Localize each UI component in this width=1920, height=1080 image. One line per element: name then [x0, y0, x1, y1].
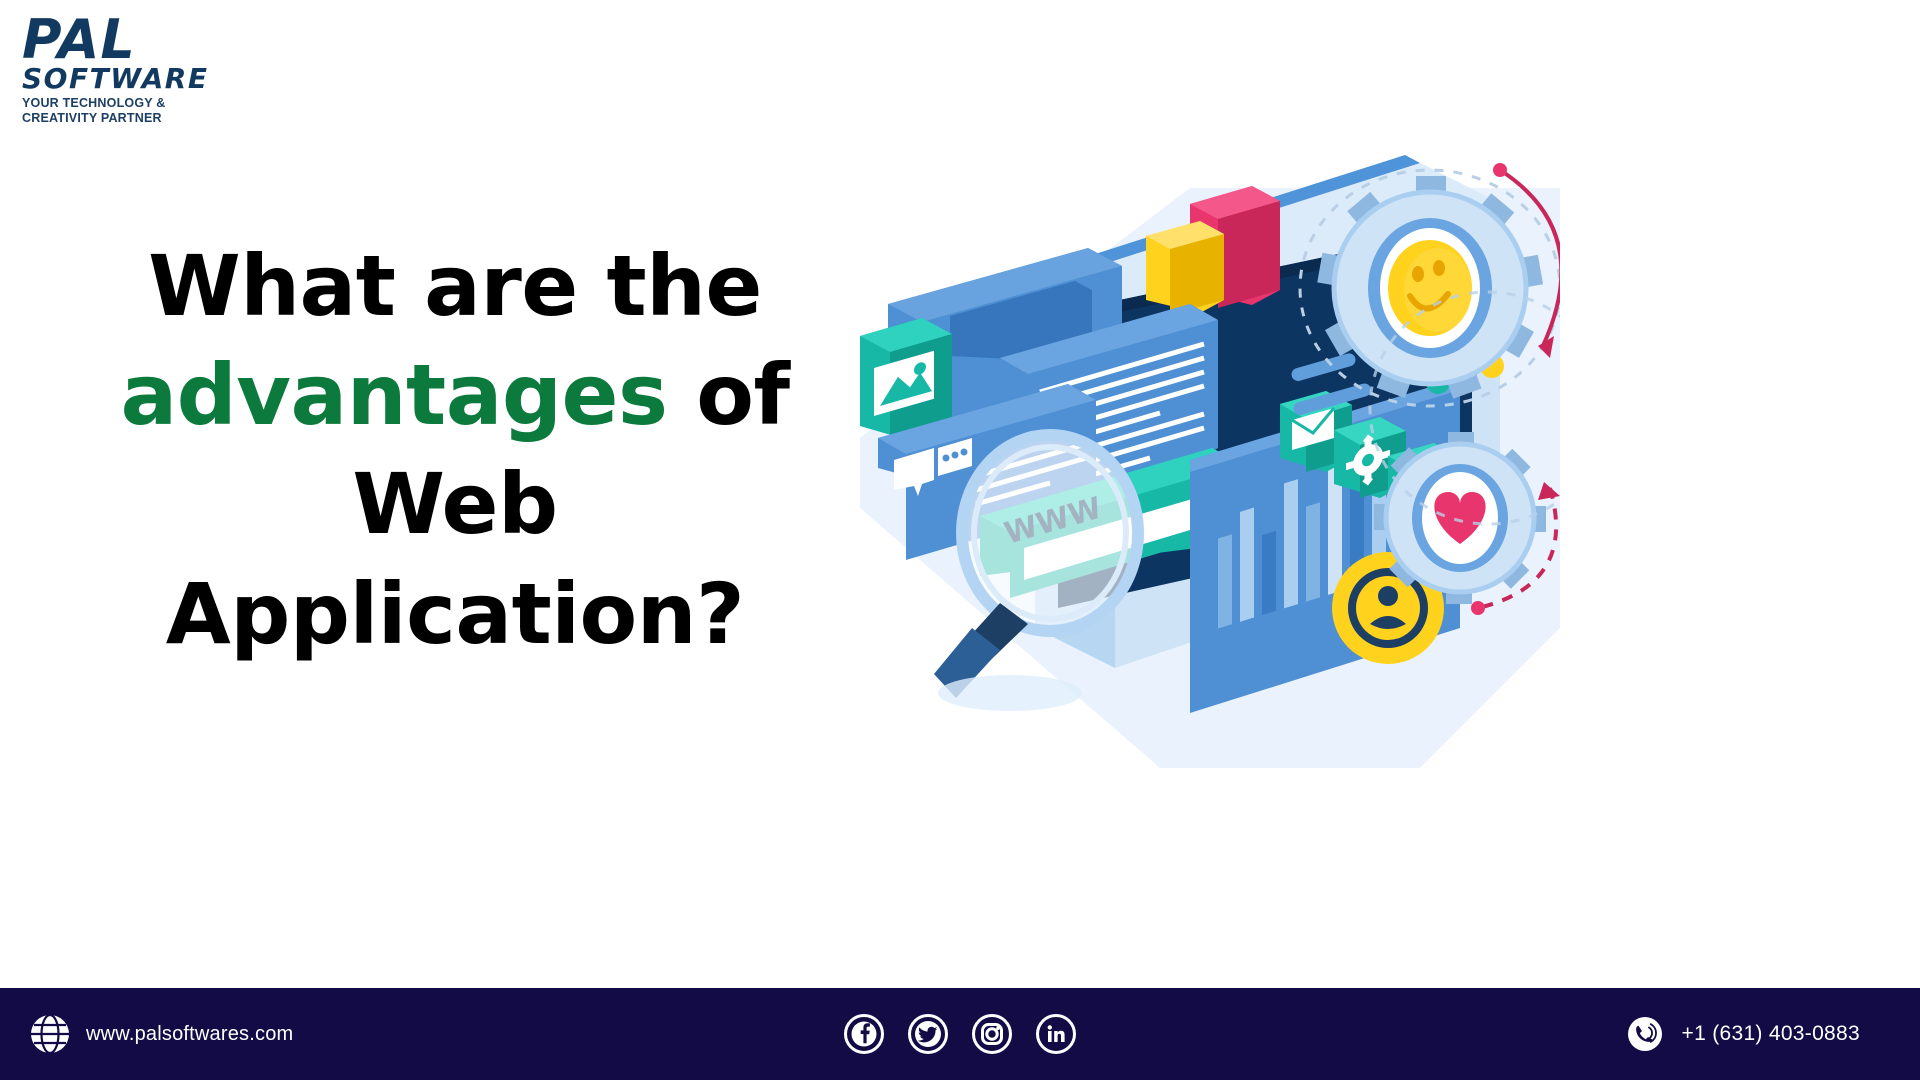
arrow-dot-top	[1493, 163, 1507, 177]
logo-pal-text: PAL	[22, 14, 222, 66]
logo-tagline-line2: CREATIVITY PARTNER	[22, 111, 222, 126]
page-title: What are the advantages of Web Applicati…	[60, 232, 850, 669]
smiley-icon	[1388, 240, 1472, 336]
globe-icon	[28, 1012, 72, 1056]
footer-phone[interactable]: +1 (631) 403-0883	[1624, 1013, 1860, 1055]
headline-part-2: of	[696, 346, 789, 444]
logo-tagline-line1: YOUR TECHNOLOGY &	[22, 96, 222, 111]
phone-icon	[1624, 1013, 1666, 1055]
footer-website-text[interactable]: www.palsoftwares.com	[86, 1023, 293, 1046]
linkedin-icon[interactable]	[1035, 1013, 1077, 1055]
headline-part-3: Web	[352, 455, 557, 553]
footer-bar: www.palsoftwares.com	[0, 988, 1920, 1080]
logo-tagline: YOUR TECHNOLOGY & CREATIVITY PARTNER	[22, 96, 222, 125]
headline-part-4: Application?	[166, 565, 745, 663]
headline-part-1: What are the	[148, 237, 762, 335]
instagram-icon[interactable]	[971, 1013, 1013, 1055]
gear-small	[1374, 432, 1546, 604]
headline-highlight: advantages	[120, 346, 667, 444]
twitter-icon[interactable]	[907, 1013, 949, 1055]
logo-software-text: SOFTWARE	[22, 64, 222, 93]
brand-logo[interactable]: PAL SOFTWARE YOUR TECHNOLOGY & CREATIVIT…	[22, 14, 222, 125]
footer-website[interactable]: www.palsoftwares.com	[28, 1012, 293, 1056]
footer-phone-text[interactable]: +1 (631) 403-0883	[1682, 1022, 1860, 1046]
facebook-icon[interactable]	[843, 1013, 885, 1055]
web-application-illustration: WWW	[860, 108, 1560, 768]
footer-social-links	[843, 1013, 1077, 1055]
arrow-dot-bottom	[1471, 601, 1485, 615]
